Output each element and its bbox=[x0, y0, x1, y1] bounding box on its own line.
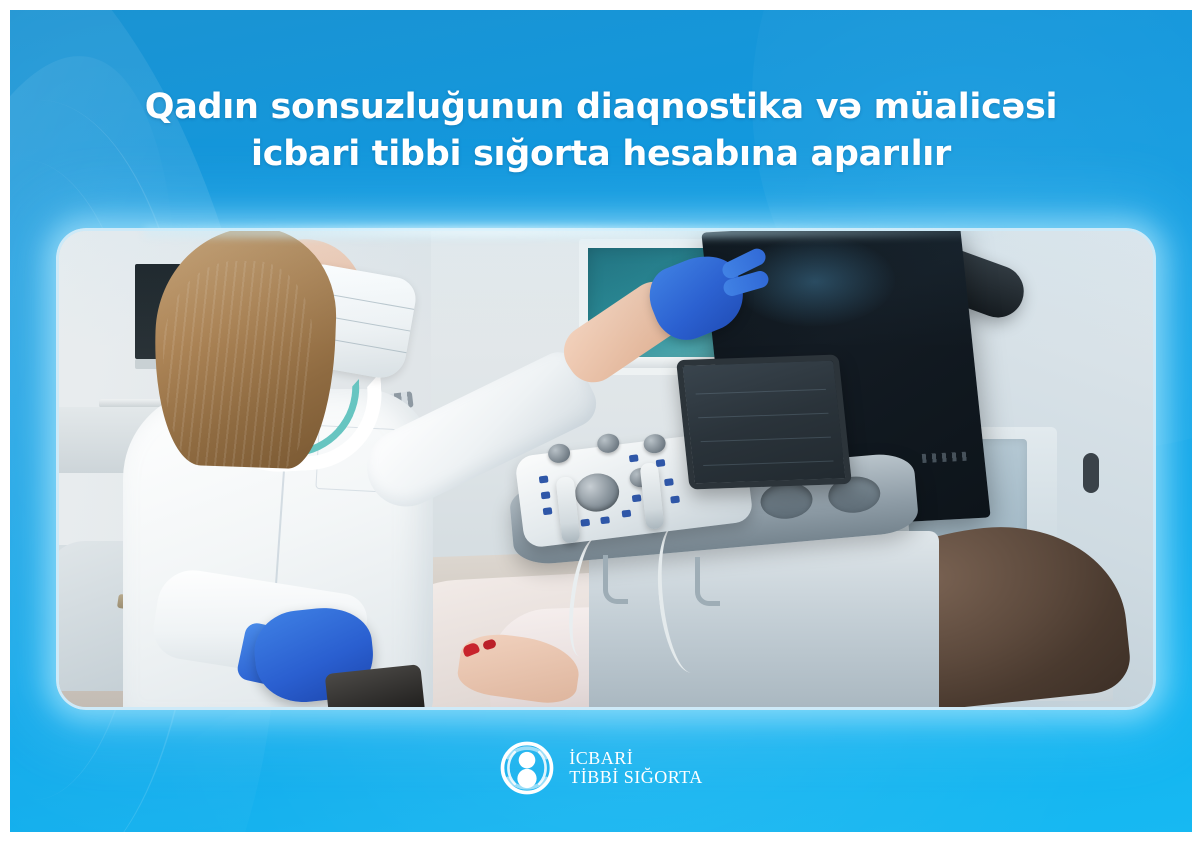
photo-card bbox=[56, 228, 1156, 710]
poster-headline: Qadın sonsuzluğunun diaqnostika və müali… bbox=[10, 84, 1192, 178]
logo-wordmark: İCBARİ TİBBİ SIĞORTA bbox=[569, 749, 702, 787]
footer-logo-lockup: İCBARİ TİBBİ SIĞORTA bbox=[10, 740, 1192, 796]
poster: Qadın sonsuzluğunun diaqnostika və müali… bbox=[0, 0, 1200, 844]
photo-color-tint bbox=[59, 231, 1153, 707]
photo-top-highlight bbox=[144, 224, 1002, 240]
logo-line-1: İCBARİ bbox=[569, 749, 702, 768]
headline-line-2: icbari tibbi sığorta hesabına aparılır bbox=[10, 131, 1192, 178]
poster-canvas: Qadın sonsuzluğunun diaqnostika və müali… bbox=[10, 10, 1192, 832]
logo-line-2: TİBBİ SIĞORTA bbox=[569, 768, 702, 787]
clinic-photo-inner bbox=[59, 231, 1153, 707]
headline-line-1: Qadın sonsuzluğunun diaqnostika və müali… bbox=[145, 87, 1057, 127]
clinic-photo bbox=[56, 228, 1156, 710]
icbari-tibbi-sigorta-logo-icon bbox=[499, 740, 555, 796]
